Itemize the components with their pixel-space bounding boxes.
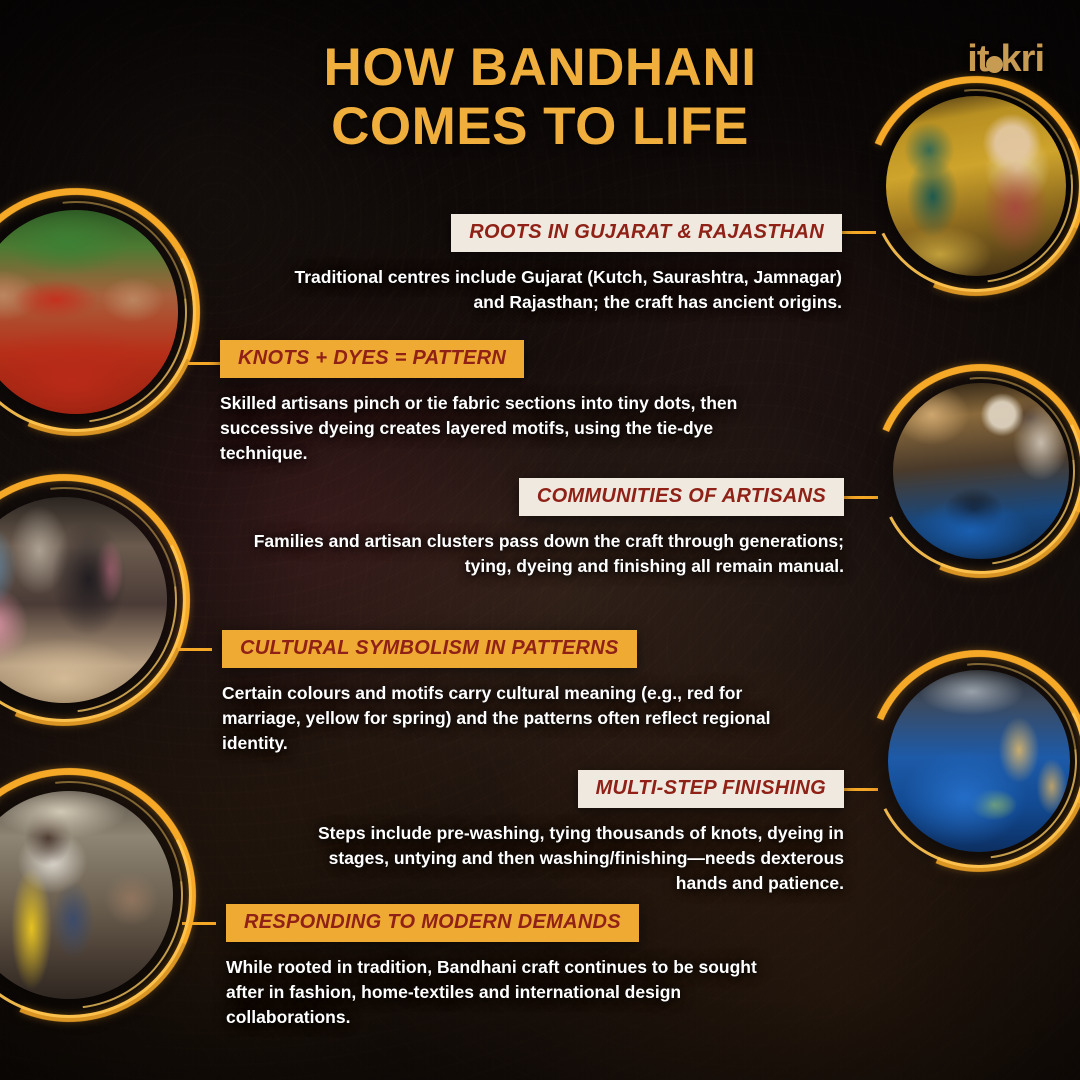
section-body: While rooted in tradition, Bandhani craf… [226, 955, 796, 1030]
logo-dot-icon [986, 56, 1003, 73]
photo-image [888, 670, 1070, 852]
infographic-poster: HOW BANDHANI COMES TO LIFE itkri [0, 0, 1080, 1080]
section-label: COMMUNITIES OF ARTISANS [519, 478, 844, 516]
photo-disc [893, 383, 1069, 559]
photo-disc [0, 497, 167, 704]
section-label: KNOTS + DYES = PATTERN [220, 340, 524, 378]
connector-line-3 [844, 496, 878, 499]
photo-artisan-lifting-yellow-dyed-fabric [0, 768, 196, 1022]
title-line-1: HOW BANDHANI [0, 38, 1080, 97]
photo-disc [888, 670, 1070, 852]
section-body: Traditional centres include Gujarat (Kut… [270, 265, 842, 315]
photo-blue-dye-vat-with-fabric-bundles [868, 650, 1080, 872]
section-body: Certain colours and motifs carry cultura… [222, 681, 802, 756]
section-roots-in-gujarat-rajasthan: ROOTS IN GUJARAT & RAJASTHAN Traditional… [270, 214, 842, 315]
section-communities-of-artisans: COMMUNITIES OF ARTISANS Families and art… [240, 478, 844, 579]
section-body: Families and artisan clusters pass down … [240, 529, 844, 579]
photo-disc [0, 791, 173, 999]
photo-image [0, 497, 167, 704]
title-line-2: COMES TO LIFE [0, 97, 1080, 156]
section-label: RESPONDING TO MODERN DEMANDS [226, 904, 639, 942]
section-cultural-symbolism-in-patterns: CULTURAL SYMBOLISM IN PATTERNS Certain c… [222, 630, 802, 756]
logo-text-part1: it [967, 38, 988, 80]
section-responding-to-modern-demands: RESPONDING TO MODERN DEMANDS While roote… [226, 904, 796, 1030]
section-multi-step-finishing: MULTI-STEP FINISHING Steps include pre-w… [300, 770, 844, 896]
section-label: MULTI-STEP FINISHING [578, 770, 844, 808]
photo-image [893, 383, 1069, 559]
section-knots-dyes-pattern: KNOTS + DYES = PATTERN Skilled artisans … [220, 340, 780, 466]
section-label: CULTURAL SYMBOLISM IN PATTERNS [222, 630, 637, 668]
photo-disc [0, 210, 178, 413]
logo-text-part2: kri [1001, 38, 1044, 80]
section-label: ROOTS IN GUJARAT & RAJASTHAN [451, 214, 842, 252]
photo-hands-tying-red-fabric-green-cloth [0, 188, 200, 436]
photo-image [0, 210, 178, 413]
photo-women-tying-cream-fabric [0, 474, 190, 726]
section-body: Steps include pre-washing, tying thousan… [300, 821, 844, 896]
page-title: HOW BANDHANI COMES TO LIFE [0, 38, 1080, 157]
photo-artisan-dyeing-in-blue-tub [874, 364, 1080, 578]
photo-image [0, 791, 173, 999]
brand-logo-itokri[interactable]: itkri [967, 38, 1044, 81]
section-body: Skilled artisans pinch or tie fabric sec… [220, 391, 780, 466]
